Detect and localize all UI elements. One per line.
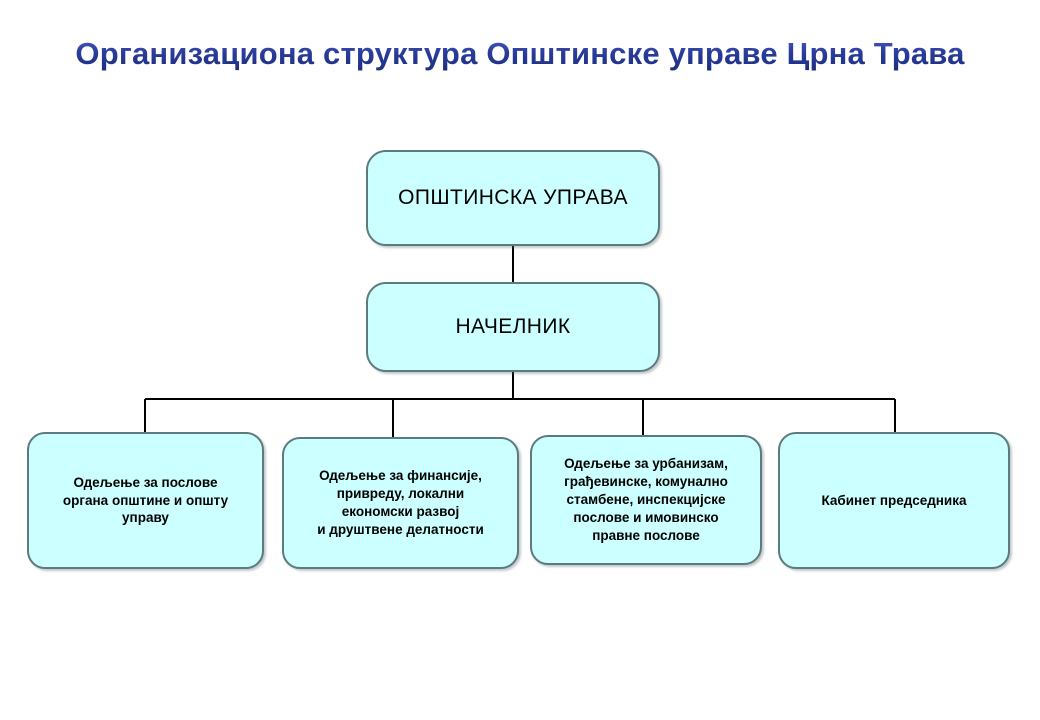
node-label-opstinska-uprava: ОПШТИНСКА УПРАВА <box>368 185 658 211</box>
org-chart-canvas: Организациона структура Општинске управе… <box>0 0 1040 720</box>
node-label-odeljenje-finansije: Одељење за финансије, привреду, локални … <box>284 467 517 538</box>
node-odeljenje-finansije[interactable]: Одељење за финансије, привреду, локални … <box>282 437 519 569</box>
node-kabinet-predsednika[interactable]: Кабинет председника <box>778 432 1010 569</box>
node-label-kabinet-predsednika: Кабинет председника <box>780 492 1008 510</box>
node-nacelnik[interactable]: НАЧЕЛНИК <box>366 282 660 372</box>
page-title: Организациона структура Општинске управе… <box>0 36 1040 72</box>
node-label-odeljenje-urbanizam: Одељење за урбанизам, грађевинске, комун… <box>532 455 760 544</box>
node-odeljenje-urbanizam[interactable]: Одељење за урбанизам, грађевинске, комун… <box>530 435 762 565</box>
node-label-nacelnik: НАЧЕЛНИК <box>368 314 658 340</box>
node-opstinska-uprava[interactable]: ОПШТИНСКА УПРАВА <box>366 150 660 246</box>
node-label-odeljenje-poslove-organa: Одељење за послове органа општине и општ… <box>29 474 262 527</box>
node-odeljenje-poslove-organa[interactable]: Одељење за послове органа општине и општ… <box>27 432 264 569</box>
